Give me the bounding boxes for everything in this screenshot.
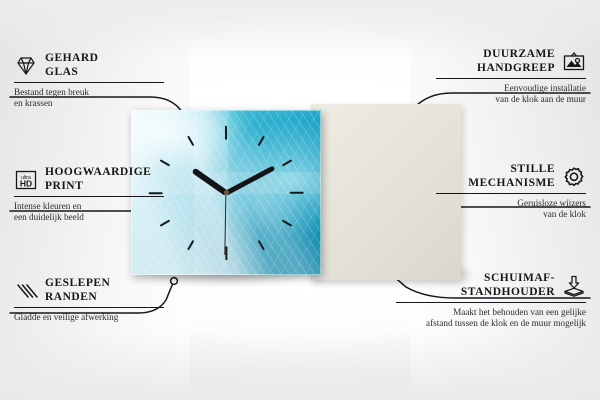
feature-description: Eenvoudige installatie van de klok aan d… xyxy=(436,83,586,106)
feature-divider xyxy=(14,307,164,308)
feature-geslepen-randen[interactable]: GESLEPEN RANDEN Gladde en veilige afwerk… xyxy=(14,277,164,323)
gear-icon xyxy=(562,165,586,189)
feature-schuimaf-standhouder[interactable]: SCHUIMAF- STANDHOUDER Maakt het behouden… xyxy=(396,272,586,329)
feature-title: STILLE MECHANISME xyxy=(468,163,555,190)
ultra-hd-icon: ultra HD xyxy=(14,168,38,192)
feature-header: GEHARD GLAS xyxy=(14,52,164,79)
press-down-pad-icon xyxy=(562,274,586,298)
feature-header: SCHUIMAF- STANDHOUDER xyxy=(396,272,586,299)
feature-description: Bestand tegen breuk en krassen xyxy=(14,87,164,110)
feature-description: Gladde en veilige afwerking xyxy=(14,312,164,323)
diamond-icon xyxy=(14,54,38,78)
feature-description: Maakt het behouden van een gelijke afsta… xyxy=(396,307,586,330)
feature-title: SCHUIMAF- STANDHOUDER xyxy=(461,272,555,299)
feature-header: ultra HD HOOGWAARDIGE PRINT xyxy=(14,166,164,193)
feature-title: GEHARD GLAS xyxy=(45,52,98,79)
diagonal-lines-icon xyxy=(14,279,38,303)
feature-description: Intense kleuren en een duidelijk beeld xyxy=(14,201,164,224)
feature-description: Geruisloze wijzers van de klok xyxy=(436,198,586,221)
picture-frame-icon xyxy=(562,50,586,74)
feature-divider xyxy=(436,193,586,194)
feature-header: GESLEPEN RANDEN xyxy=(14,277,164,304)
feature-duurzame-handgreep[interactable]: DUURZAME HANDGREEP Eenvoudige installati… xyxy=(436,48,586,105)
feature-header: STILLE MECHANISME xyxy=(436,163,586,190)
feature-divider xyxy=(436,78,586,79)
feature-divider xyxy=(14,82,164,83)
feature-title: GESLEPEN RANDEN xyxy=(45,277,110,304)
feature-header: DUURZAME HANDGREEP xyxy=(436,48,586,75)
background-vignette-bottom xyxy=(0,330,600,400)
feature-divider xyxy=(396,302,586,303)
feature-stille-mechanisme[interactable]: STILLE MECHANISME Geruisloze wijzers van… xyxy=(436,163,586,220)
feature-hoogwaardige-print[interactable]: ultra HD HOOGWAARDIGE PRINT Intense kleu… xyxy=(14,166,164,223)
feature-divider xyxy=(14,196,164,197)
svg-text:HD: HD xyxy=(20,178,32,188)
feature-gehard-glas[interactable]: GEHARD GLAS Bestand tegen breuk en krass… xyxy=(14,52,164,109)
infographic-stage: GEHARD GLAS Bestand tegen breuk en krass… xyxy=(0,0,600,400)
feature-title: DUURZAME HANDGREEP xyxy=(477,48,555,75)
feature-title: HOOGWAARDIGE PRINT xyxy=(45,166,151,193)
